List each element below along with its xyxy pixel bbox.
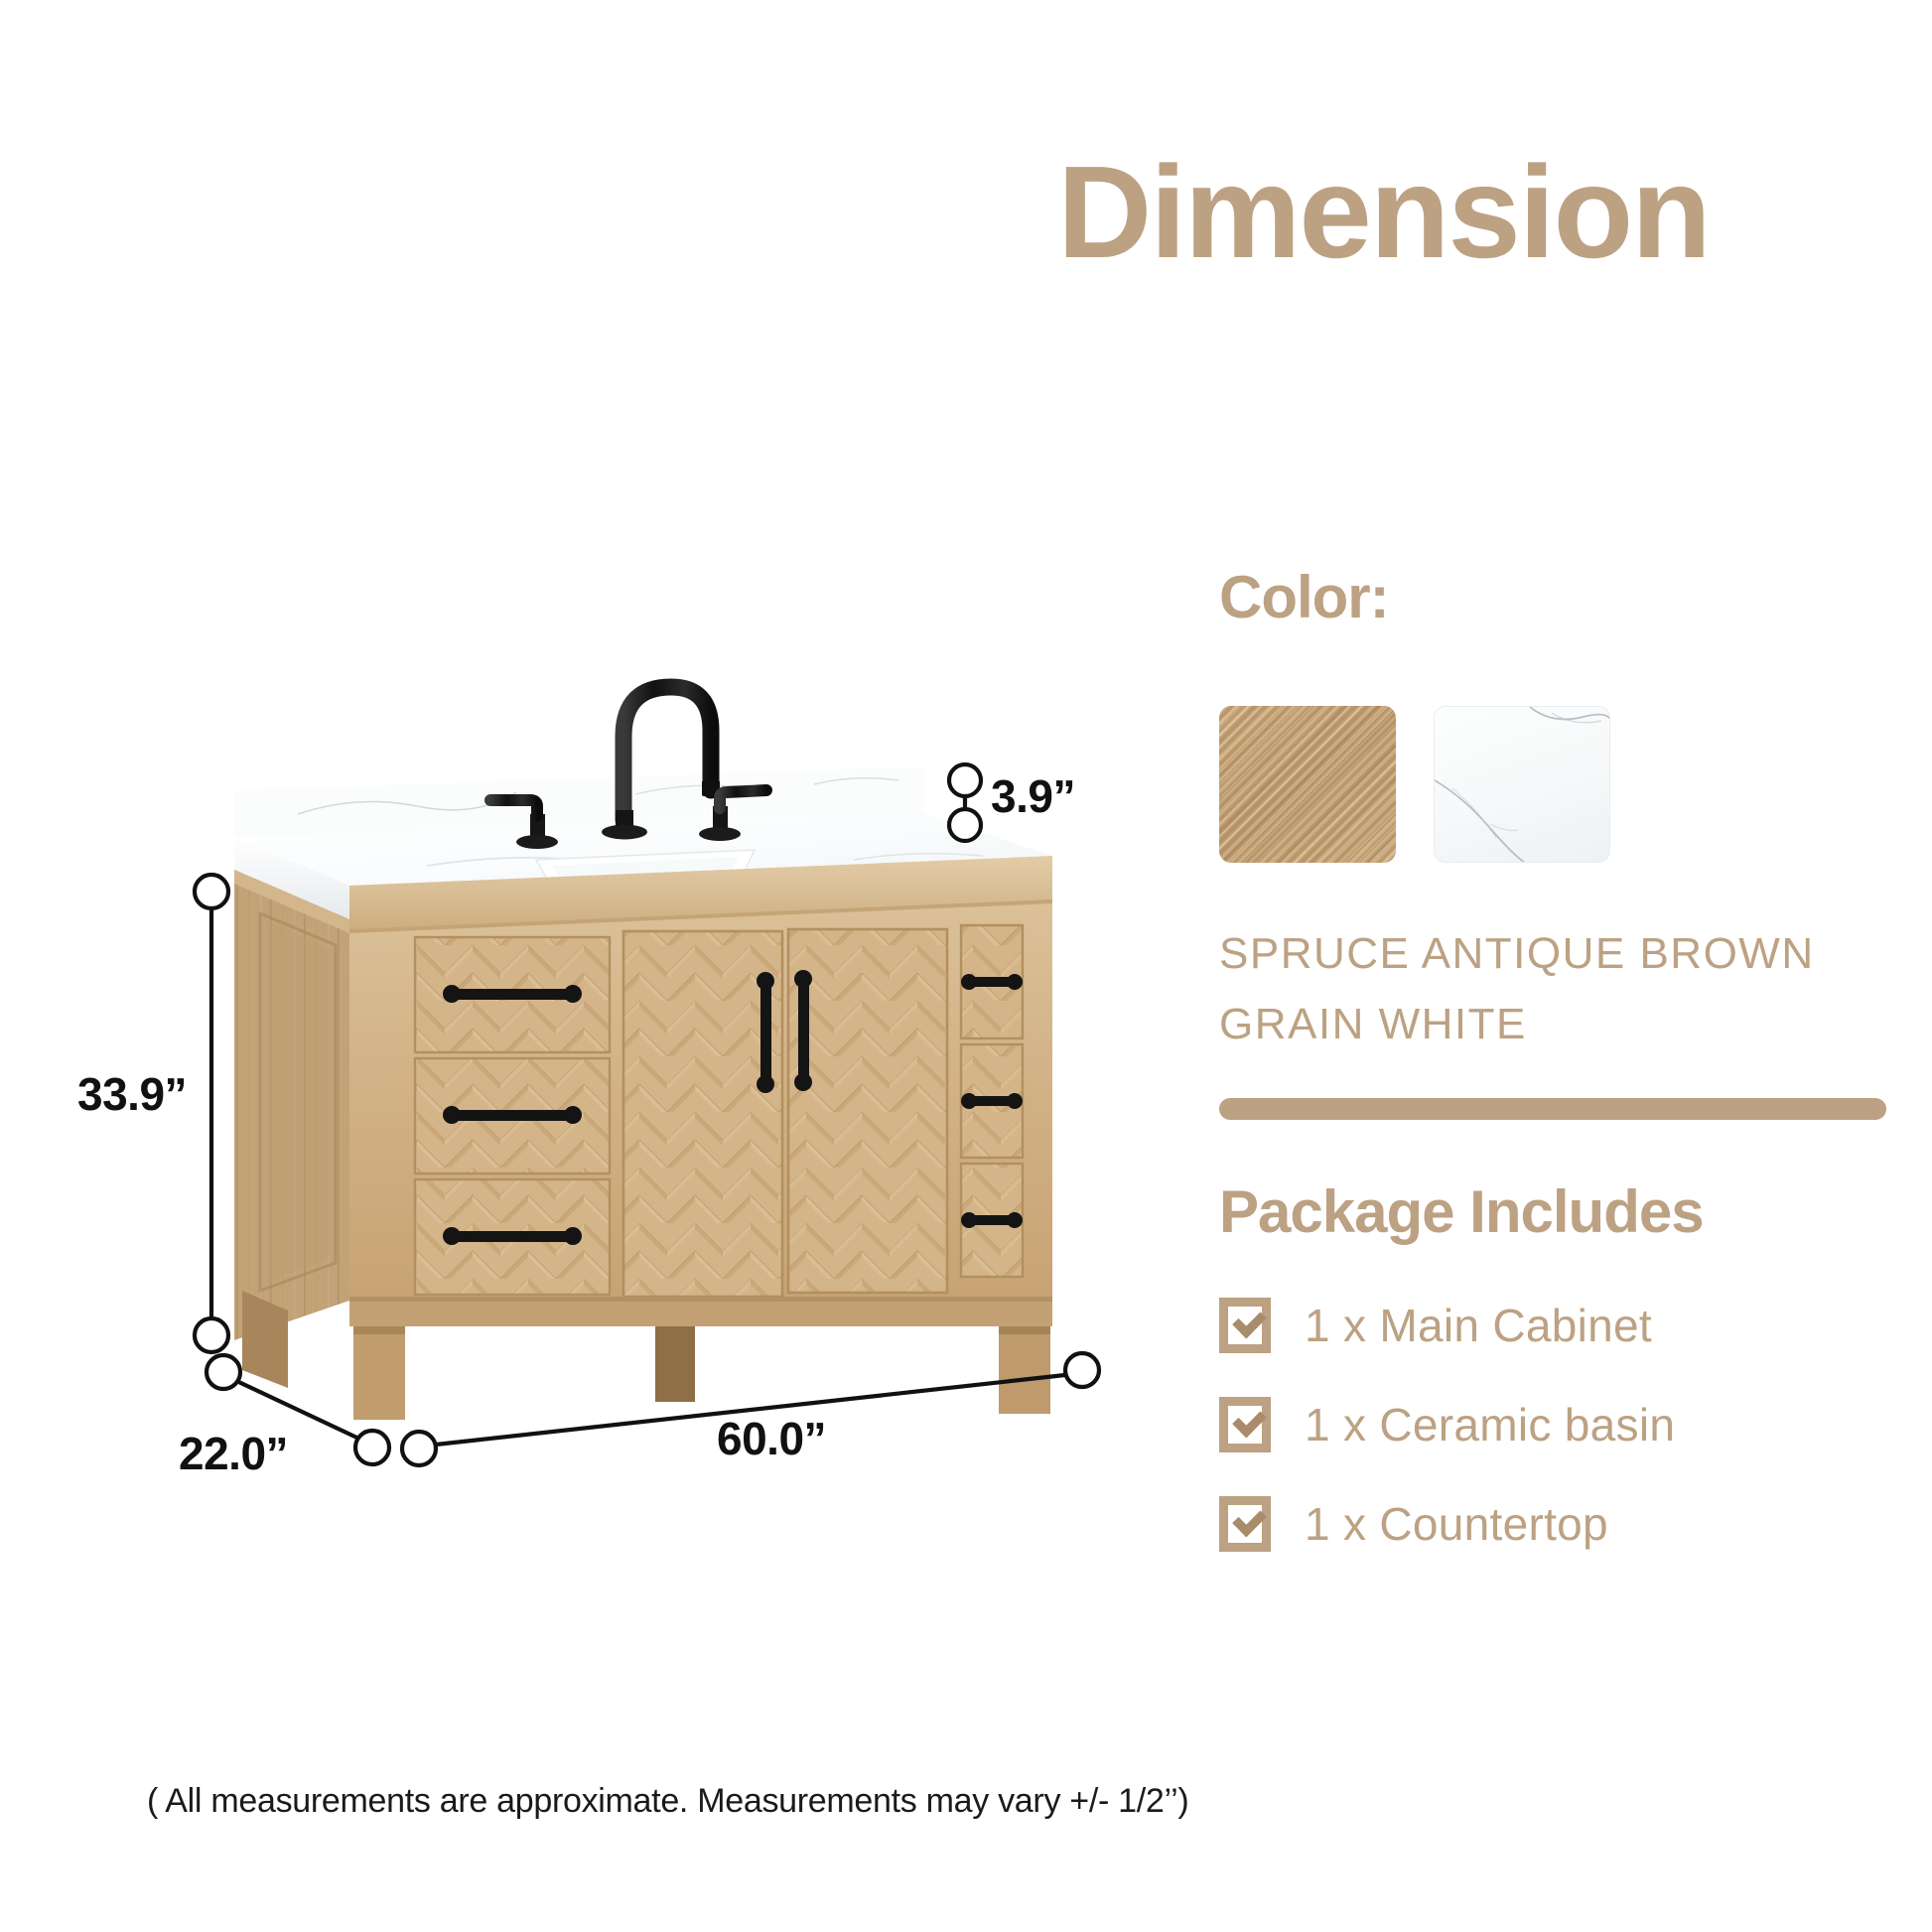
info-panel: Color: SPRUCE ANTIQUE BROWN GRAIN WHITE …	[1219, 566, 1886, 1595]
list-item: 1 x Countertop	[1219, 1496, 1886, 1552]
checkbox-checked-icon	[1219, 1298, 1271, 1353]
dimension-height-label: 33.9”	[77, 1067, 187, 1121]
color-name-list: SPRUCE ANTIQUE BROWN GRAIN WHITE	[1219, 918, 1886, 1060]
dimension-depth-label: 22.0”	[179, 1427, 288, 1480]
left-drawer-stack	[415, 937, 610, 1295]
color-section-heading: Color:	[1219, 566, 1886, 628]
list-item: 1 x Ceramic basin	[1219, 1397, 1886, 1452]
list-item: 1 x Main Cabinet	[1219, 1298, 1886, 1353]
package-item-list: 1 x Main Cabinet 1 x Ceramic basin 1 x C…	[1219, 1298, 1886, 1552]
checkbox-checked-icon	[1219, 1397, 1271, 1452]
color-name-marble: GRAIN WHITE	[1219, 989, 1886, 1059]
dimension-width-label: 60.0”	[717, 1412, 826, 1465]
product-diagram: 33.9” 22.0” 60.0” 3.9”	[0, 0, 1172, 1588]
marble-vein-graphic	[1435, 707, 1610, 863]
page-title: Dimension	[1057, 147, 1891, 278]
color-swatch-row	[1219, 706, 1886, 863]
footnote-text: ( All measurements are approximate. Meas…	[147, 1782, 1188, 1821]
checkbox-checked-icon	[1219, 1496, 1271, 1552]
marble-swatch[interactable]	[1434, 706, 1610, 863]
wood-swatch[interactable]	[1219, 706, 1396, 863]
package-item-label: 1 x Countertop	[1305, 1497, 1608, 1551]
section-divider	[1219, 1098, 1886, 1120]
dimension-thickness-label: 3.9”	[991, 769, 1075, 823]
package-item-label: 1 x Main Cabinet	[1305, 1299, 1652, 1352]
color-name-wood: SPRUCE ANTIQUE BROWN	[1219, 918, 1886, 989]
package-item-label: 1 x Ceramic basin	[1305, 1398, 1675, 1451]
right-drawer-stack	[961, 925, 1023, 1277]
package-section-heading: Package Includes	[1219, 1177, 1886, 1246]
